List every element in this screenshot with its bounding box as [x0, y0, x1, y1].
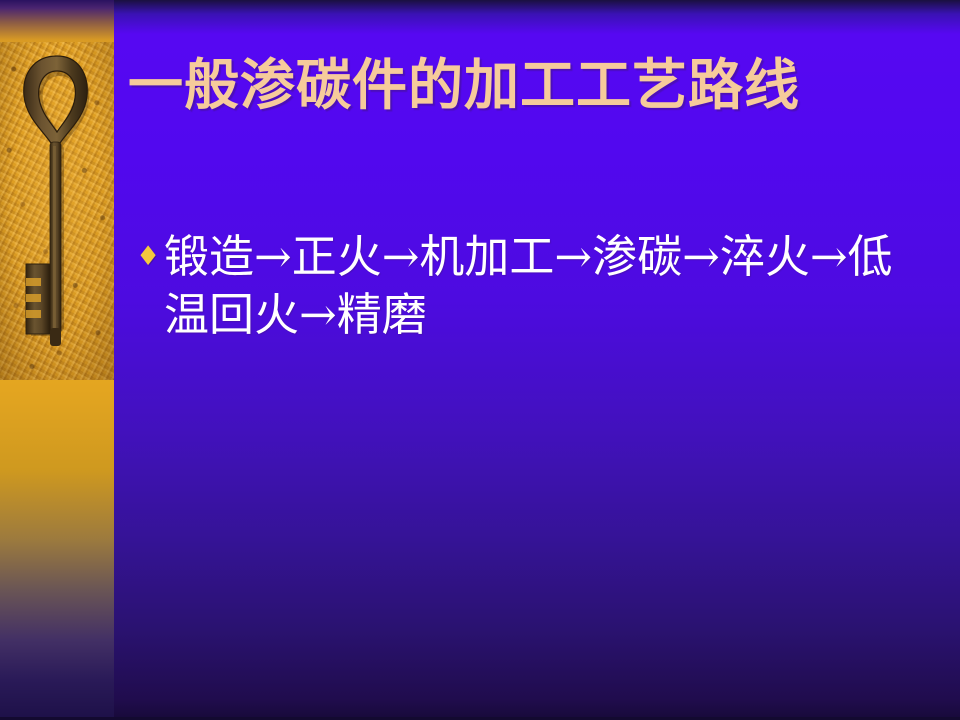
slide-title: 一般渗碳件的加工工艺路线 — [128, 54, 948, 116]
key-icon — [0, 42, 114, 380]
bullet-item: ♦ 锻造→正火→机加工→渗碳→淬火→低温回火→精磨 — [136, 228, 926, 344]
bullet-text: 锻造→正火→机加工→渗碳→淬火→低温回火→精磨 — [164, 228, 926, 344]
slide-canvas: 一般渗碳件的加工工艺路线 ♦ 锻造→正火→机加工→渗碳→淬火→低温回火→精磨 — [0, 0, 960, 720]
side-decoration-strip — [0, 0, 114, 720]
diamond-bullet-icon: ♦ — [136, 228, 164, 286]
key-photo — [0, 42, 114, 380]
slide-body: ♦ 锻造→正火→机加工→渗碳→淬火→低温回火→精磨 — [136, 228, 926, 344]
